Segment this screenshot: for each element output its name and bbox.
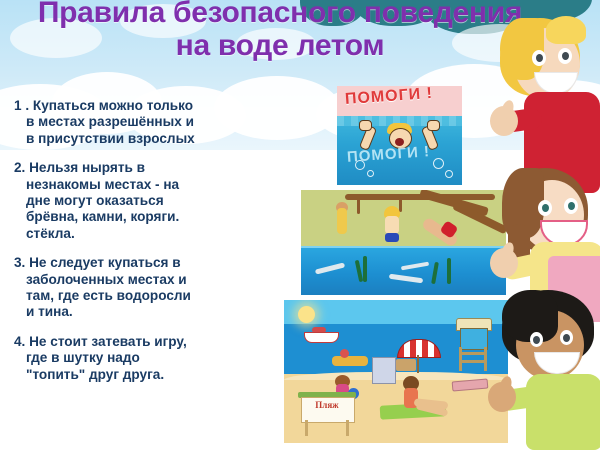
rule-item-2: 2. Нельзя нырять в незнакомы местах - на… xyxy=(14,160,314,242)
slide-canvas: Правила безопасного поведения на воде ле… xyxy=(0,0,600,450)
rule-item-3: 3. Не следует купаться в заболоченных ме… xyxy=(14,255,314,321)
cartoon-blond-boy xyxy=(494,18,600,193)
beach-sign-label: Пляж xyxy=(301,400,353,410)
picture-drowning-child: ПОМОГИ ! ПОМОГИ ! xyxy=(337,86,462,185)
rule-item-1: 1 . Купаться можно только в местах разре… xyxy=(14,98,314,147)
rules-list: 1 . Купаться можно только в местах разре… xyxy=(14,98,314,396)
rule-item-4: 4. Не стоит затевать игру, где в шутку н… xyxy=(14,334,314,383)
picture-diving-into-river xyxy=(301,190,506,295)
page-title: Правила безопасного поведения на воде ле… xyxy=(20,0,540,62)
cartoon-dark-haired-boy xyxy=(486,290,600,450)
beach-sign: Пляж xyxy=(298,392,356,436)
picture-beach: Пляж xyxy=(284,300,508,443)
lifeguard-tower xyxy=(456,318,490,371)
